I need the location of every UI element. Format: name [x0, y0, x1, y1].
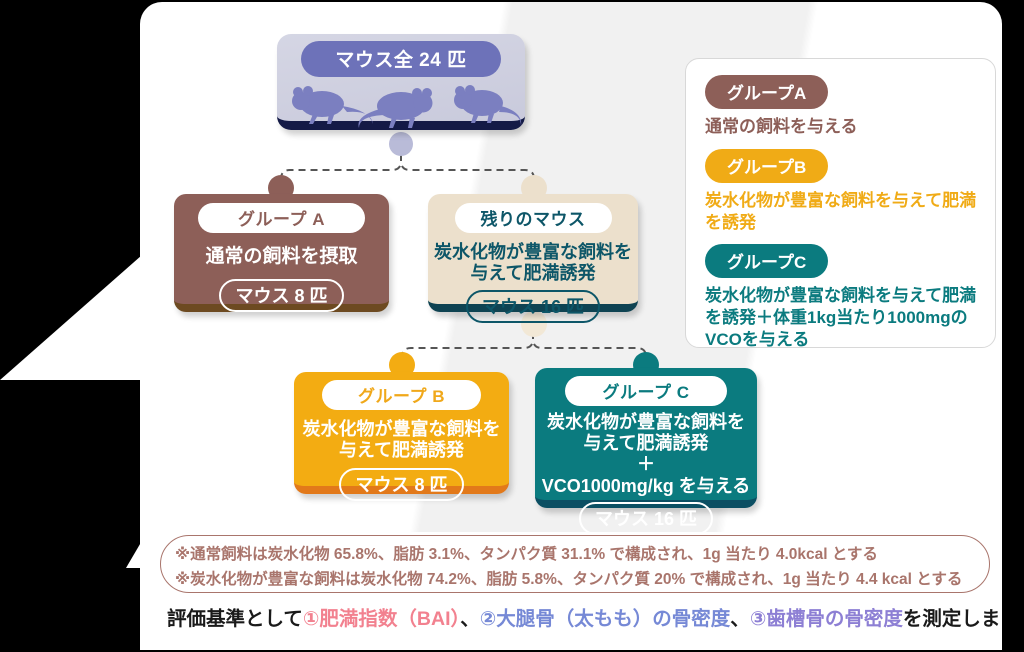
node-group-c-body-line4: VCO1000mg/kg を与える	[535, 476, 757, 497]
node-group-a-body: 通常の飼料を摂取	[174, 246, 389, 268]
node-group-c-body-line1: 炭水化物が豊富な飼料を	[535, 412, 757, 433]
legend-item-group-a: グループA 通常の飼料を与える	[705, 75, 977, 138]
node-group-b[interactable]: グループ B 炭水化物が豊富な飼料を 与えて肥満誘発 マウス 8 匹	[294, 372, 509, 494]
footnote-line-1: ※通常飼料は炭水化物 65.8%、脂肪 3.1%、タンパク質 31.1% で構成…	[175, 542, 989, 567]
node-group-a-title: グループ A	[198, 203, 365, 233]
diagram-canvas: マウス全 24 匹	[0, 0, 1024, 652]
legend-text-group-a: 通常の飼料を与える	[705, 116, 977, 138]
legend-item-group-b: グループB 炭水化物が豊富な飼料を与えて肥満を誘発	[705, 149, 977, 234]
node-remaining-body: 炭水化物が豊富な飼料を 与えて肥満誘発	[428, 242, 638, 284]
legend-text-group-b: 炭水化物が豊富な飼料を与えて肥満を誘発	[705, 190, 977, 234]
mouse-icon	[277, 76, 525, 128]
node-group-b-body-line2: 与えて肥満誘発	[294, 440, 509, 461]
legend-item-group-c: グループC 炭水化物が豊富な飼料を与えて肥満を誘発＋体重1kg当たり1000mg…	[705, 244, 977, 350]
legend-text-group-c: 炭水化物が豊富な飼料を与えて肥満を誘発＋体重1kg当たり1000mgのVCOを与…	[705, 285, 977, 350]
caption-item-femur: ②大腿骨（太もも）の骨密度	[480, 608, 731, 630]
node-all-mice-title: マウス全 24 匹	[301, 41, 500, 77]
node-remaining-title: 残りのマウス	[455, 203, 612, 233]
legend-pill-group-b: グループB	[705, 149, 828, 183]
caption-separator-2: 、	[730, 608, 750, 630]
node-group-a[interactable]: グループ A 通常の飼料を摂取 マウス 8 匹	[174, 194, 389, 312]
caption-prefix: 評価基準として	[167, 608, 303, 630]
node-group-b-body-line1: 炭水化物が豊富な飼料を	[294, 419, 509, 440]
node-remaining-mice[interactable]: 残りのマウス 炭水化物が豊富な飼料を 与えて肥満誘発 マウス 16 匹	[428, 194, 638, 312]
connector-dot-root	[389, 132, 413, 156]
node-group-c-count: マウス 16 匹	[579, 502, 713, 535]
node-remaining-body-line2: 与えて肥満誘発	[428, 263, 638, 284]
node-group-c-title: グループ C	[565, 376, 728, 406]
caption-separator-1: 、	[460, 608, 480, 630]
node-all-mice[interactable]: マウス全 24 匹	[277, 34, 525, 130]
node-group-c[interactable]: グループ C 炭水化物が豊富な飼料を 与えて肥満誘発 ＋ VCO1000mg/k…	[535, 368, 757, 508]
decorative-wedge-left	[0, 248, 150, 380]
node-group-b-body: 炭水化物が豊富な飼料を 与えて肥満誘発	[294, 419, 509, 461]
legend-panel: グループA 通常の飼料を与える グループB 炭水化物が豊富な飼料を与えて肥満を誘…	[685, 58, 996, 348]
node-group-b-title: グループ B	[322, 380, 481, 410]
node-group-b-count: マウス 8 匹	[339, 468, 463, 501]
node-group-c-body: 炭水化物が豊富な飼料を 与えて肥満誘発 ＋ VCO1000mg/kg を与える	[535, 412, 757, 497]
diagram-card: マウス全 24 匹	[140, 2, 1002, 650]
node-group-c-body-line3: ＋	[535, 454, 757, 475]
legend-pill-group-c: グループC	[705, 244, 828, 278]
node-remaining-body-line1: 炭水化物が豊富な飼料を	[428, 242, 638, 263]
node-group-c-body-line2: 与えて肥満誘発	[535, 433, 757, 454]
caption-suffix: を測定しました。	[903, 608, 1002, 630]
caption: 評価基準として①肥満指数（BAI）、②大腿骨（太もも）の骨密度、③歯槽骨の骨密度…	[167, 602, 1002, 631]
node-remaining-count: マウス 16 匹	[466, 290, 600, 323]
caption-item-alveolar: ③歯槽骨の骨密度	[750, 608, 903, 630]
caption-item-bai: ①肥満指数（BAI）	[303, 608, 460, 630]
footnotes-box: ※通常飼料は炭水化物 65.8%、脂肪 3.1%、タンパク質 31.1% で構成…	[160, 535, 990, 593]
footnote-line-2: ※炭水化物が豊富な飼料は炭水化物 74.2%、脂肪 5.8%、タンパク質 20%…	[175, 567, 989, 592]
node-group-a-count: マウス 8 匹	[219, 279, 343, 312]
legend-pill-group-a: グループA	[705, 75, 828, 109]
